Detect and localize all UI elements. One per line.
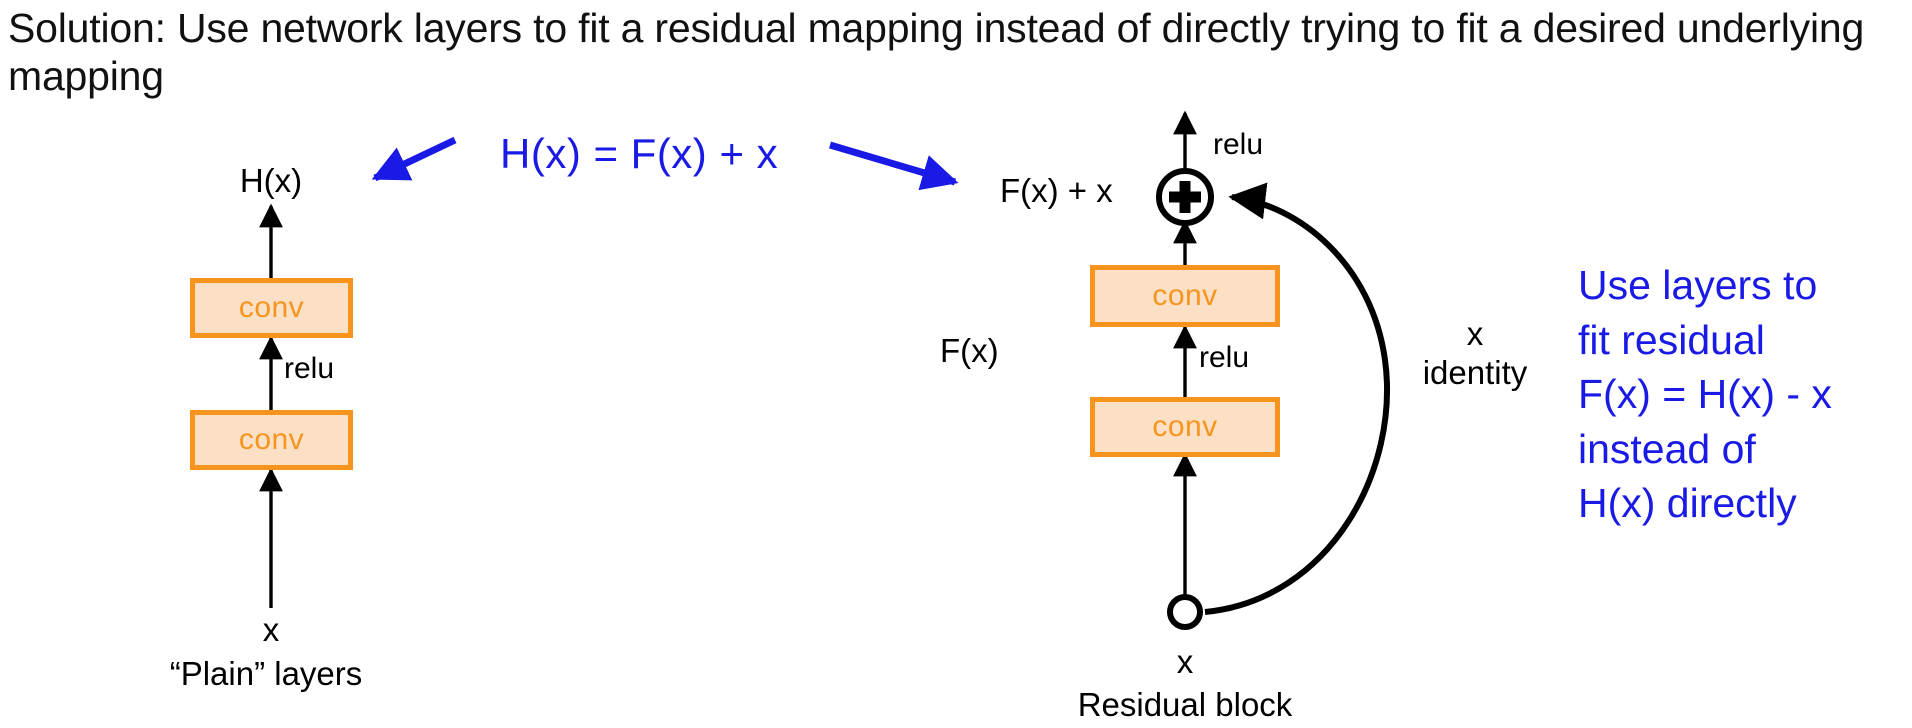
plain-conv-top[interactable]: conv: [190, 278, 353, 338]
plain-input-label: x: [263, 611, 280, 649]
sum-node-icon: [1159, 171, 1211, 223]
plain-conv-bottom-label: conv: [239, 423, 304, 457]
side-note-line-2: fit residual: [1578, 313, 1832, 368]
residual-output-relu-label: relu: [1213, 128, 1263, 162]
residual-conv-top-label: conv: [1152, 279, 1217, 313]
residual-sum-label: F(x) + x: [1000, 172, 1113, 210]
side-note: Use layers to fit residual F(x) = H(x) -…: [1578, 258, 1832, 531]
residual-branch-label: F(x): [940, 332, 999, 370]
residual-conv-bottom-label: conv: [1152, 410, 1217, 444]
plain-output-label: H(x): [240, 162, 302, 200]
page-title: Solution: Use network layers to fit a re…: [8, 4, 1898, 101]
plain-relu-label: relu: [284, 352, 334, 386]
side-note-line-3: F(x) = H(x) - x: [1578, 367, 1832, 422]
plain-conv-bottom[interactable]: conv: [190, 410, 353, 470]
side-note-line-1: Use layers to: [1578, 258, 1832, 313]
plain-conv-top-label: conv: [239, 291, 304, 325]
plain-block-caption: “Plain” layers: [170, 655, 363, 694]
residual-input-label: x: [1177, 643, 1194, 681]
residual-formula-annotation: H(x) = F(x) + x: [500, 130, 778, 178]
identity-label: x identity: [1423, 315, 1528, 393]
identity-label-x: x: [1423, 315, 1528, 354]
blue-arrow-right: [830, 145, 955, 182]
residual-conv-top[interactable]: conv: [1090, 265, 1280, 327]
identity-label-text: identity: [1423, 354, 1528, 393]
slide-canvas: Solution: Use network layers to fit a re…: [0, 0, 1912, 728]
residual-inner-relu-label: relu: [1199, 341, 1249, 375]
side-note-line-4: instead of: [1578, 422, 1832, 477]
blue-arrow-left: [375, 140, 455, 178]
residual-block-caption: Residual block: [1078, 686, 1293, 725]
side-note-line-5: H(x) directly: [1578, 476, 1832, 531]
residual-conv-bottom[interactable]: conv: [1090, 397, 1280, 457]
